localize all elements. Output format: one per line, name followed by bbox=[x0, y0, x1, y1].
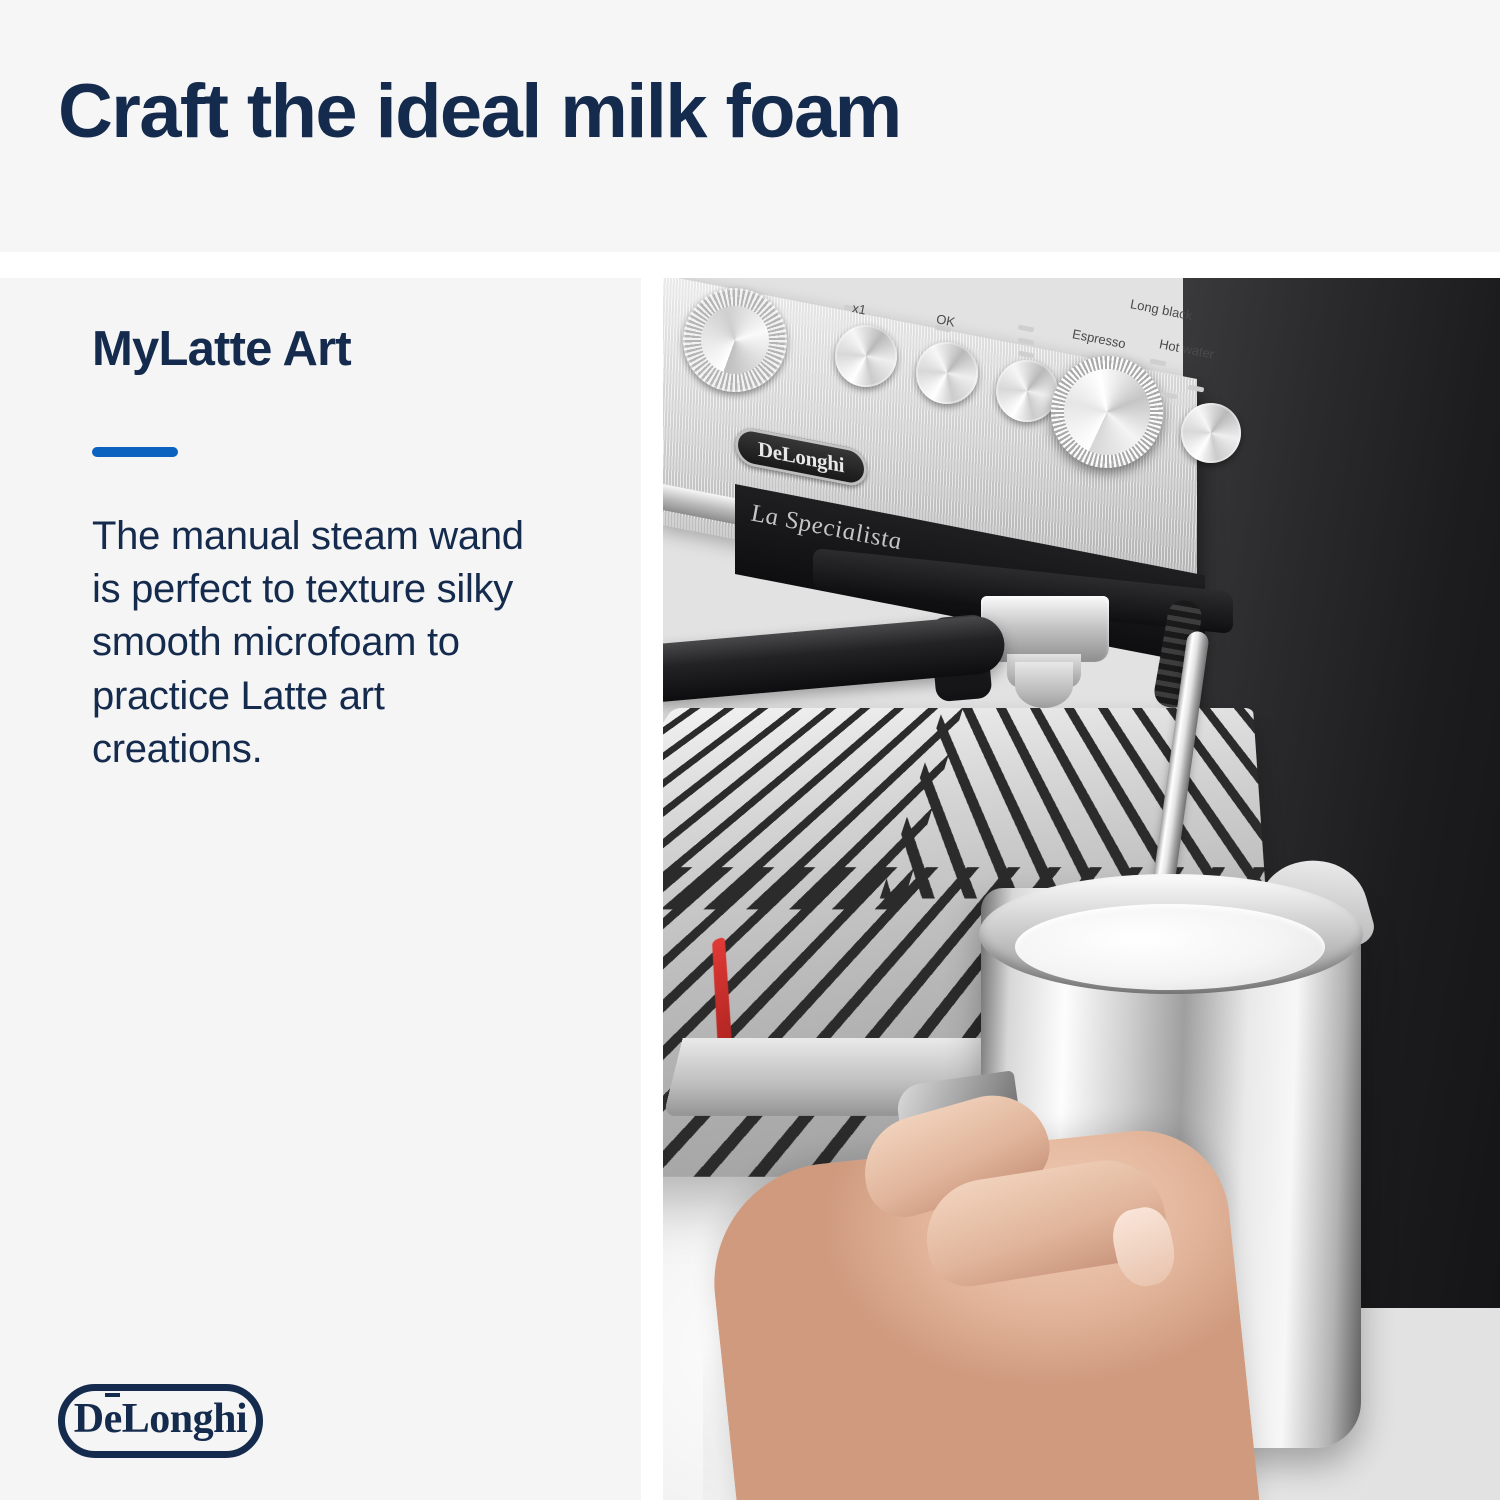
feature-description: The manual steam wand is perfect to text… bbox=[92, 510, 562, 776]
feature-text-panel bbox=[0, 278, 641, 1500]
page-title: Craft the ideal milk foam bbox=[58, 74, 901, 150]
led-indicator bbox=[1150, 359, 1167, 367]
feature-title: MyLatte Art bbox=[92, 325, 351, 374]
header-band: Craft the ideal milk foam bbox=[0, 0, 1500, 252]
delonghi-logo: DeLonghi bbox=[58, 1384, 263, 1458]
led-indicator bbox=[1018, 325, 1035, 333]
temperature-button[interactable] bbox=[996, 360, 1058, 422]
grind-size-knob[interactable] bbox=[683, 288, 787, 392]
photo-background: x1 OK Espresso Long black Hot water DeLo… bbox=[663, 278, 1500, 1500]
product-photo: x1 OK Espresso Long black Hot water DeLo… bbox=[663, 278, 1500, 1500]
delonghi-logo-text: DeLonghi bbox=[74, 1398, 247, 1440]
manual-brew-button[interactable] bbox=[1181, 403, 1241, 463]
portafilter-spout bbox=[1015, 662, 1073, 708]
dose-button[interactable] bbox=[835, 325, 897, 387]
label-shot-count: x1 bbox=[851, 300, 867, 317]
milk-foam bbox=[1015, 904, 1325, 990]
label-espresso: Espresso bbox=[1071, 326, 1127, 351]
ok-button[interactable] bbox=[916, 342, 978, 404]
beverage-selector-dial[interactable] bbox=[1051, 356, 1163, 468]
accent-divider bbox=[92, 447, 178, 457]
logo-macron-e: e bbox=[104, 1396, 122, 1442]
